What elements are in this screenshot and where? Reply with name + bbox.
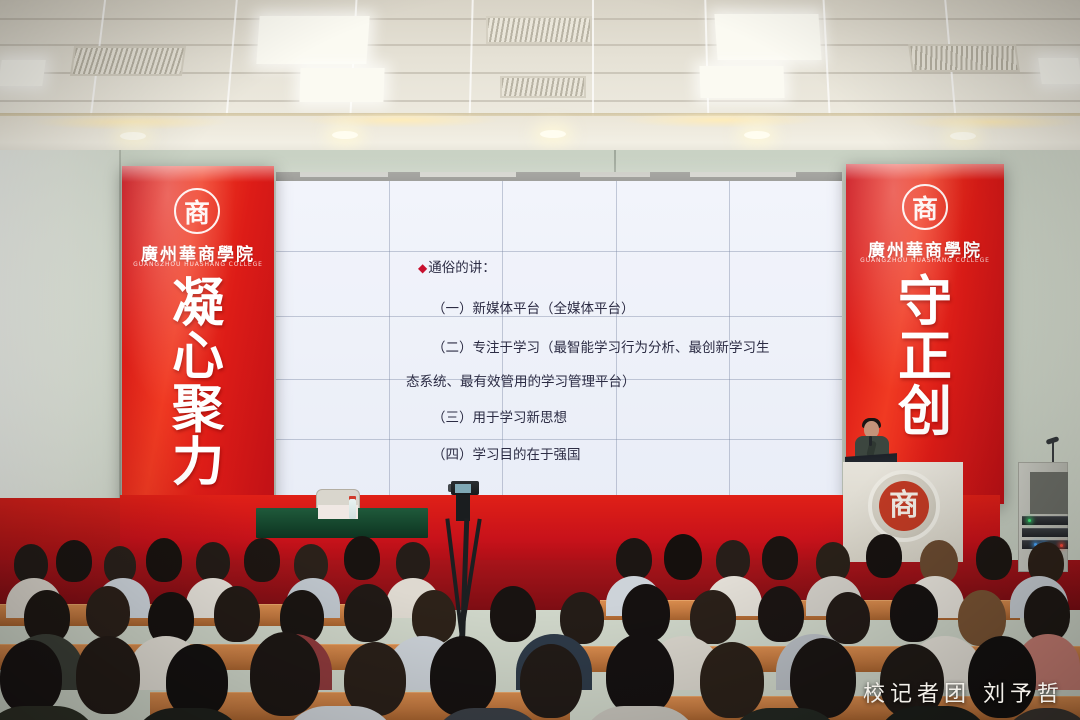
- ceiling-light-panel: [256, 16, 369, 64]
- slogan-char: 力: [122, 437, 274, 490]
- slogan-char: 凝: [122, 278, 274, 331]
- ceiling-air-vent: [908, 44, 1020, 72]
- ceiling-light-panel: [0, 60, 46, 86]
- recessed-downlight: [120, 132, 146, 140]
- ceiling-light-panel: [299, 68, 384, 102]
- slide-line-3: 态系统、最有效管用的学习管理平台）: [406, 373, 636, 392]
- slide-line-5: （四）学习目的在于强国: [432, 446, 581, 465]
- audience-head: [244, 538, 280, 582]
- recessed-downlight: [540, 130, 566, 138]
- banner-slogan-left: 凝 心 聚 力: [122, 278, 274, 490]
- audience-head: [690, 590, 736, 644]
- slogan-char: 正: [846, 329, 1004, 384]
- audience-head: [490, 586, 536, 642]
- left-wall-return: [0, 150, 120, 550]
- audience-head: [344, 642, 406, 716]
- audience-head: [890, 584, 938, 642]
- recessed-downlight: [332, 131, 358, 139]
- audience-head: [758, 586, 804, 642]
- college-name-cn: 廣州華商學院: [122, 240, 274, 265]
- slogan-char: 聚: [122, 384, 274, 437]
- ceiling-air-vent: [486, 16, 592, 44]
- audience-head: [166, 644, 228, 718]
- video-wall-display[interactable]: ◆通俗的讲： （一）新媒体平台（全媒体平台） （二）专注于学习（最智能学习行为分…: [276, 181, 842, 503]
- audience-head: [56, 540, 92, 582]
- banner-slogan-right: 守 正 创: [846, 274, 1004, 439]
- recessed-downlight: [744, 131, 770, 139]
- slide-line-4: （三）用于学习新思想: [432, 409, 567, 428]
- audience-head: [250, 632, 320, 716]
- audience-head: [396, 542, 430, 582]
- slide-line-0: ◆通俗的讲：: [418, 259, 496, 278]
- tripod-head: [456, 495, 470, 521]
- ceiling-air-vent: [500, 76, 586, 98]
- audience-head: [616, 538, 652, 580]
- college-emblem-glyph: 商: [908, 190, 942, 224]
- audience-head: [976, 536, 1012, 580]
- handheld-microphone-icon: [869, 436, 872, 446]
- audience-head: [344, 584, 392, 642]
- college-emblem-glyph: 商: [180, 194, 214, 228]
- photo-credit-watermark: 校记者团 刘予哲: [863, 676, 1064, 708]
- college-name-en: GUANGZHOU HUASHANG COLLEGE: [122, 261, 274, 268]
- audience-head: [622, 584, 670, 642]
- college-name-en: GUANGZHOU HUASHANG COLLEGE: [846, 257, 1004, 264]
- audience-head: [606, 634, 674, 716]
- audience-head: [430, 636, 496, 716]
- recessed-downlight: [950, 132, 976, 140]
- audience-head: [520, 644, 582, 718]
- diamond-bullet-icon: ◆: [418, 261, 427, 275]
- audience-head: [664, 534, 702, 580]
- audience-torso: [0, 706, 100, 720]
- slide-line-text: 通俗的讲：: [428, 260, 496, 276]
- college-emblem-icon: 商: [902, 184, 948, 230]
- ceiling-light-panel: [1038, 58, 1080, 84]
- audience-head: [0, 640, 62, 714]
- slogan-char: 守: [846, 274, 1004, 329]
- ceiling-light-panel: [699, 66, 784, 98]
- audience-head: [700, 642, 764, 718]
- rack-cabinet: [1030, 472, 1068, 514]
- camera-screen: [455, 484, 471, 493]
- slogan-char: 心: [122, 331, 274, 384]
- audience-head: [86, 586, 130, 638]
- ceiling-air-vent: [70, 46, 186, 76]
- slide-line-2: （二）专注于学习（最智能学习行为分析、最创新学习生: [432, 339, 770, 358]
- water-bottle: [349, 499, 356, 519]
- slide-line-1: （一）新媒体平台（全媒体平台）: [432, 300, 635, 319]
- audience-head: [762, 536, 798, 580]
- audience-head: [716, 540, 750, 580]
- audience-head: [790, 638, 856, 718]
- audience-head: [866, 534, 902, 578]
- audience-head: [146, 538, 182, 582]
- audience-head: [214, 586, 260, 642]
- lecture-hall-photo: ◆通俗的讲： （一）新媒体平台（全媒体平台） （二）专注于学习（最智能学习行为分…: [0, 0, 1080, 720]
- ceiling-light-panel: [714, 14, 821, 60]
- audience-head: [76, 636, 140, 714]
- college-emblem-icon: 商: [174, 188, 220, 234]
- audience-head: [826, 592, 870, 644]
- audience-head: [344, 536, 380, 580]
- college-name-cn: 廣州華商學院: [846, 236, 1004, 261]
- banner-left: 商 廣州華商學院 GUANGZHOU HUASHANG COLLEGE 凝 心 …: [122, 166, 274, 526]
- presentation-slide: ◆通俗的讲： （一）新媒体平台（全媒体平台） （二）专注于学习（最智能学习行为分…: [276, 181, 842, 503]
- audience-head: [196, 542, 230, 582]
